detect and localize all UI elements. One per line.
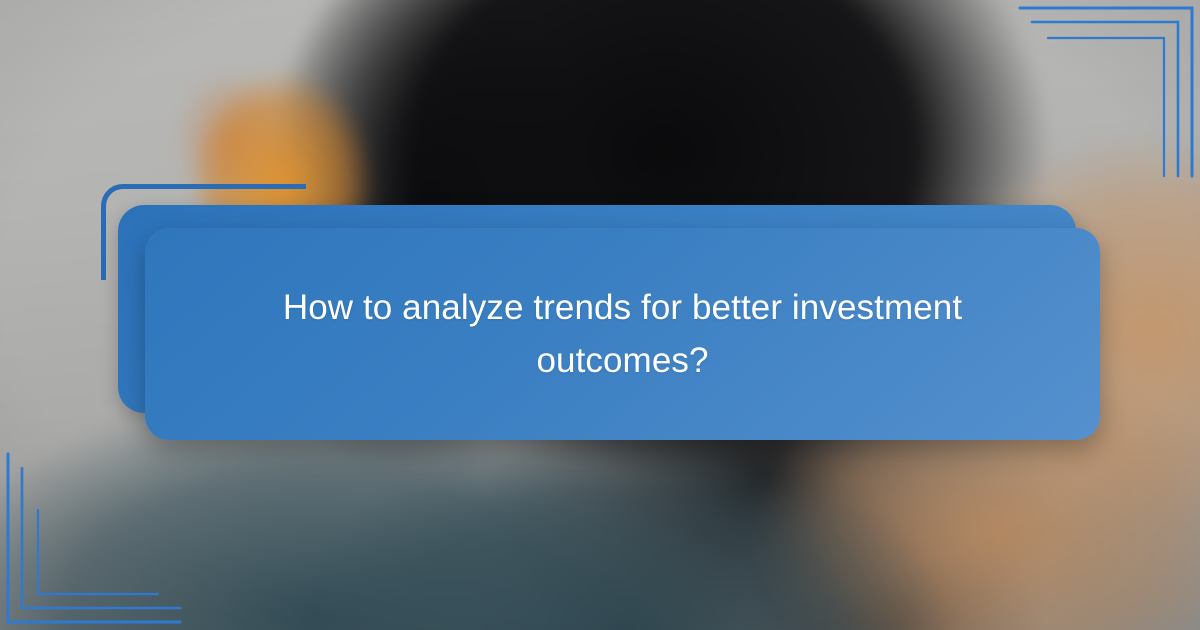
social-card-canvas: How to analyze trends for better investm…: [0, 0, 1200, 630]
card-headline: How to analyze trends for better investm…: [243, 281, 1003, 387]
question-card[interactable]: How to analyze trends for better investm…: [145, 228, 1100, 440]
